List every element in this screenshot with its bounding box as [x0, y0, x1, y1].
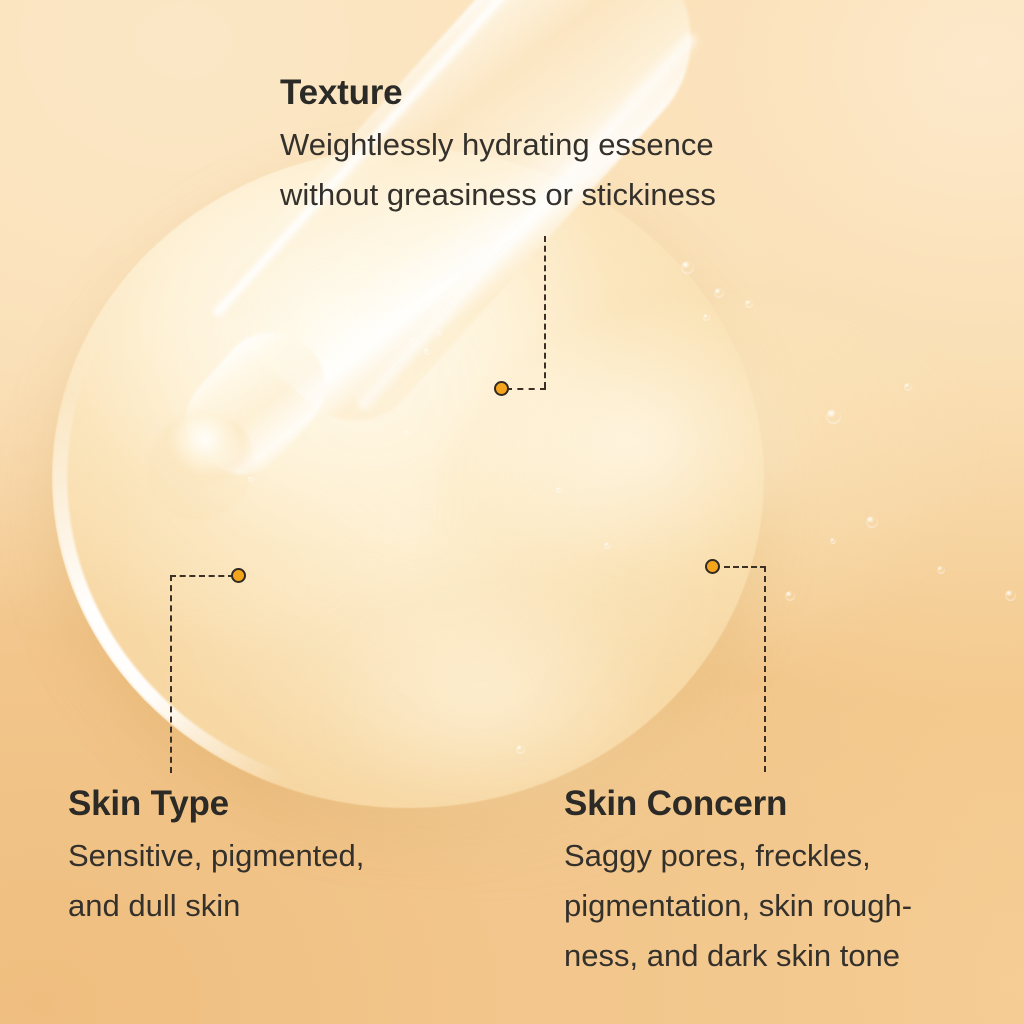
gel-bubble [703, 314, 710, 321]
callout-texture-body: Weightlessly hydrating essence without g… [280, 120, 716, 220]
callout-texture-body-line: Weightlessly hydrating essence [280, 120, 716, 170]
gel-bubble [437, 330, 443, 336]
gel-bubble [424, 348, 431, 355]
callout-dot-skin-concern[interactable] [705, 559, 720, 574]
gel-bubble [409, 337, 418, 346]
callout-dot-texture[interactable] [494, 381, 509, 396]
callout-skin-type-body-line: and dull skin [68, 881, 364, 931]
leader-line-skin-concern-horizontal [724, 566, 766, 568]
infographic-canvas: Texture Weightlessly hydrating essence w… [0, 0, 1024, 1024]
callout-skin-concern-body-line: Saggy pores, freckles, [564, 831, 912, 881]
callout-skin-concern-heading: Skin Concern [564, 783, 912, 825]
gel-bubble [937, 566, 945, 574]
gel-bubble [866, 516, 878, 528]
callout-skin-concern: Skin Concern Saggy pores, freckles, pigm… [564, 783, 912, 981]
gel-bubble [516, 745, 525, 754]
callout-skin-type-body: Sensitive, pigmented, and dull skin [68, 831, 364, 931]
gel-bubble [248, 476, 254, 482]
gel-bubble [745, 300, 753, 308]
leader-line-texture-horizontal [506, 388, 546, 390]
gel-bubble [1005, 590, 1016, 601]
gel-bubble [604, 542, 611, 549]
leader-line-skin-type-vertical [170, 575, 172, 773]
gel-bubble [785, 591, 795, 601]
gel-bubble [904, 383, 912, 391]
callout-dot-skin-type[interactable] [231, 568, 246, 583]
gel-bubble [714, 288, 724, 298]
leader-line-texture-vertical [544, 236, 546, 388]
callout-texture-body-line: without greasiness or stickiness [280, 170, 716, 220]
leader-line-skin-concern-vertical [764, 566, 766, 772]
callout-texture: Texture Weightlessly hydrating essence w… [280, 72, 716, 220]
callout-skin-concern-body-line: pigmentation, skin rough- [564, 881, 912, 931]
gel-bubble [830, 538, 836, 544]
gel-bubble [556, 487, 562, 493]
gel-bubble [826, 409, 841, 424]
callout-skin-type: Skin Type Sensitive, pigmented, and dull… [68, 783, 364, 931]
leader-line-skin-type-horizontal [170, 575, 234, 577]
callout-texture-heading: Texture [280, 72, 716, 114]
callout-skin-type-heading: Skin Type [68, 783, 364, 825]
callout-skin-concern-body: Saggy pores, freckles, pigmentation, ski… [564, 831, 912, 981]
gel-bubble [681, 261, 694, 274]
callout-skin-type-body-line: Sensitive, pigmented, [68, 831, 364, 881]
callout-skin-concern-body-line: ness, and dark skin tone [564, 931, 912, 981]
gel-bubble [404, 430, 409, 435]
